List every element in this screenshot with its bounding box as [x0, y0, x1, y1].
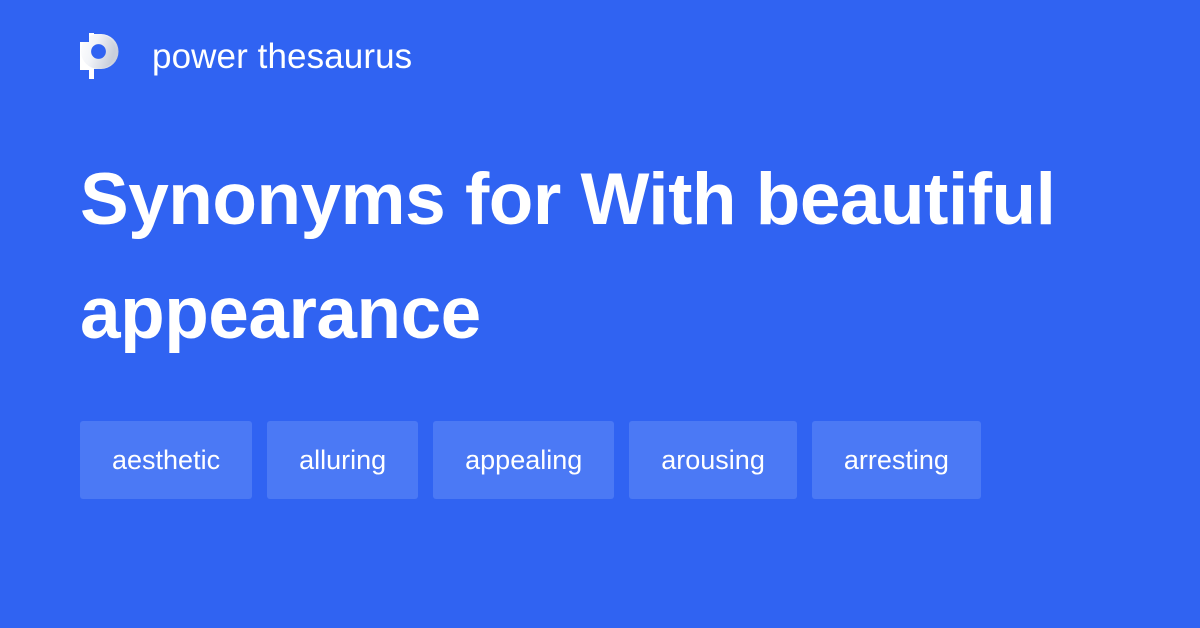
- synonym-chip[interactable]: appealing: [433, 421, 614, 499]
- share-card: power thesaurus Synonyms for With beauti…: [0, 0, 1200, 628]
- synonym-chip[interactable]: arresting: [812, 421, 981, 499]
- synonym-chip[interactable]: aesthetic: [80, 421, 252, 499]
- synonym-chip-list: aesthetic alluring appealing arousing ar…: [80, 421, 1140, 499]
- page-title: Synonyms for With beautiful appearance: [80, 143, 1090, 371]
- brand-header[interactable]: power thesaurus: [80, 30, 412, 82]
- power-thesaurus-b-logo-icon: [80, 33, 124, 79]
- synonym-chip[interactable]: alluring: [267, 421, 418, 499]
- synonym-chip[interactable]: arousing: [629, 421, 797, 499]
- brand-name: power thesaurus: [152, 39, 412, 74]
